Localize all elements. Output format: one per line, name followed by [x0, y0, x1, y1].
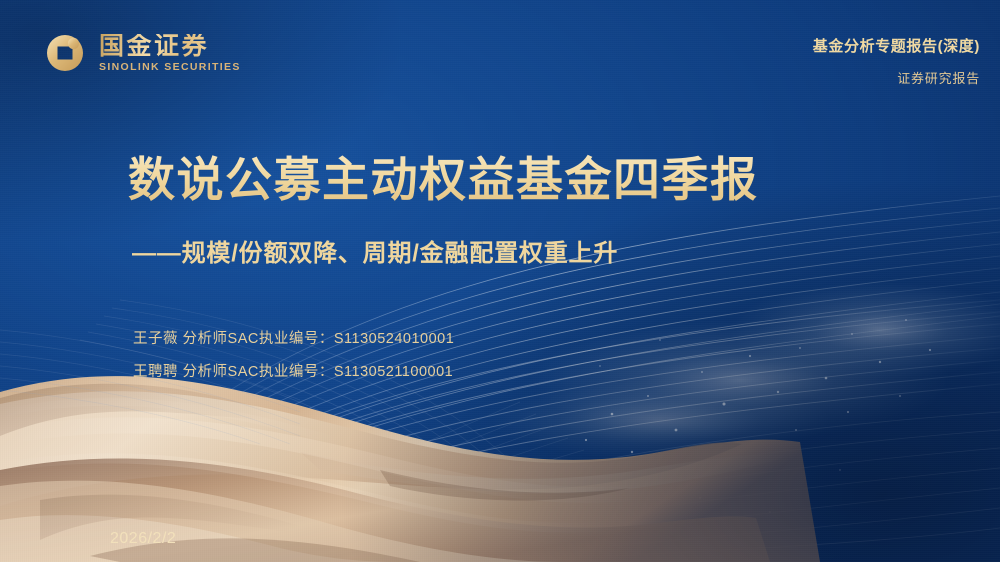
brand-wordmark: 国金证券 SINOLINK SECURITIES — [99, 34, 241, 73]
brand-name-en: SINOLINK SECURITIES — [99, 62, 241, 73]
report-category-label: 基金分析专题报告(深度) — [813, 38, 980, 56]
header-report-labels: 基金分析专题报告(深度) 证券研究报告 — [813, 38, 980, 87]
sinolink-ring-logo-icon — [44, 32, 86, 74]
brand-logo: 国金证券 SINOLINK SECURITIES — [44, 32, 241, 74]
analyst-line: 王聘聘 分析师SAC执业编号：S1130521100001 — [133, 365, 454, 380]
cover-title-block: 数说公募主动权益基金四季报 ——规模/份额双降、周期/金融配置权重上升 — [128, 152, 759, 268]
report-title: 数说公募主动权益基金四季报 — [128, 152, 759, 207]
report-date: 2026/2/2 — [110, 531, 176, 547]
brand-name-cn: 国金证券 — [99, 34, 241, 59]
report-subtitle: ——规模/份额双降、周期/金融配置权重上升 — [132, 233, 759, 268]
analyst-line: 王子薇 分析师SAC执业编号：S1130524010001 — [133, 332, 454, 347]
report-type-label: 证券研究报告 — [813, 71, 980, 87]
report-cover-slide: 国金证券 SINOLINK SECURITIES 基金分析专题报告(深度) 证券… — [0, 0, 1000, 562]
cover-header: 国金证券 SINOLINK SECURITIES 基金分析专题报告(深度) 证券… — [0, 0, 1000, 110]
analyst-credits: 王子薇 分析师SAC执业编号：S1130524010001 王聘聘 分析师SAC… — [133, 332, 454, 379]
